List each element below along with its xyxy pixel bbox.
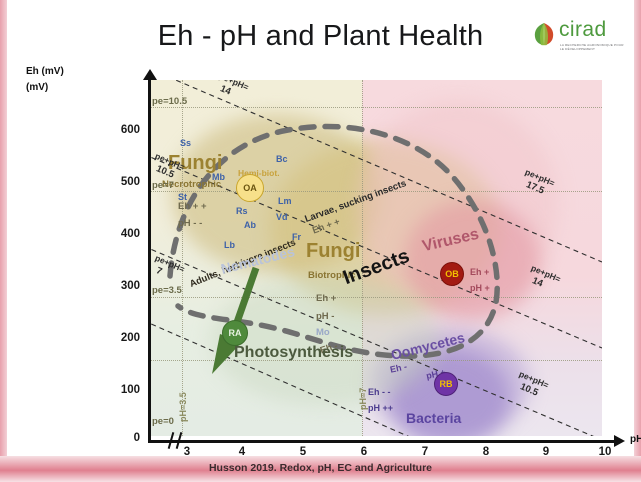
region-fungi-biotrophic-ph: pH - bbox=[316, 310, 334, 323]
footer-band: Husson 2019. Redox, pH, EC and Agricultu… bbox=[0, 456, 641, 482]
region-bacteria-title: Bacteria bbox=[406, 410, 461, 426]
region-viruses-eh: Eh + bbox=[470, 266, 489, 278]
y-axis-arrow-icon bbox=[143, 69, 157, 80]
y-axis-unit-mv: (mV) bbox=[26, 82, 48, 93]
ph-guide-label-3_5: pH=3.5 bbox=[178, 392, 188, 422]
x-axis-title-ph: pH bbox=[630, 434, 641, 445]
species-code-ab: Ab bbox=[244, 220, 256, 230]
region-fungi-biotrophic-eh: Eh + bbox=[316, 292, 336, 305]
marker-ob-label: OB bbox=[445, 269, 459, 279]
y-tick-100: 100 bbox=[94, 384, 140, 396]
y-tick-200: 200 bbox=[94, 332, 140, 344]
species-code-ss: Ss bbox=[180, 138, 191, 148]
region-fungi-necrotrophic-ph: pH - - bbox=[178, 217, 202, 230]
plot-area: Fungi Necrotrophic Eh + + pH - - Fungi B… bbox=[150, 80, 602, 436]
species-code-vd: Vd bbox=[276, 212, 288, 222]
cirad-wordmark: cirad bbox=[559, 18, 607, 42]
region-photosynthesis-title: Photosynthesis bbox=[234, 344, 353, 362]
marker-rb[interactable]: RB bbox=[434, 372, 458, 396]
right-edge-bar bbox=[634, 0, 641, 482]
y-tick-300: 300 bbox=[94, 280, 140, 292]
marker-ra-label: RA bbox=[229, 328, 242, 338]
region-viruses-ph: pH + bbox=[470, 282, 490, 294]
pe-label-0: pe=0 bbox=[152, 416, 174, 427]
marker-rb-label: RB bbox=[440, 379, 453, 389]
x-axis-line bbox=[148, 440, 618, 443]
region-fungi-biotrophic-title: Fungi bbox=[306, 240, 360, 263]
species-code-lm: Lm bbox=[278, 196, 292, 206]
region-bacteria-eh: Eh - - bbox=[368, 386, 391, 398]
species-code-bc: Bc bbox=[276, 154, 288, 164]
eh-ph-chart: Fungi Necrotrophic Eh + + pH - - Fungi B… bbox=[18, 68, 628, 453]
species-code-st: St bbox=[178, 192, 187, 202]
slide-canvas: Eh - pH and Plant Health cirad LA RECHER… bbox=[0, 0, 641, 482]
species-code-mb: Mb bbox=[212, 172, 225, 182]
region-fungi-biotrophic-extra: Mo bbox=[316, 326, 330, 339]
pe-label-3_5: pe=3.5 bbox=[152, 285, 182, 296]
marker-oa[interactable]: OA bbox=[236, 174, 264, 202]
marker-ra[interactable]: RA bbox=[222, 320, 248, 346]
y-axis-line bbox=[148, 78, 151, 442]
footer-citation: Husson 2019. Redox, pH, EC and Agricultu… bbox=[0, 462, 641, 474]
y-tick-600: 600 bbox=[94, 124, 140, 136]
pe-label-10_5: pe=10.5 bbox=[152, 96, 187, 107]
ph-guide-label-7: pH=7 bbox=[358, 388, 368, 410]
species-code-rs: Rs bbox=[236, 206, 248, 216]
species-code-fr: Fr bbox=[292, 232, 301, 242]
left-edge-bar bbox=[0, 0, 7, 482]
region-bacteria-ph: pH ++ bbox=[368, 402, 393, 414]
cirad-logo: cirad LA RECHERCHE AGRONOMIQUE POUR LE D… bbox=[533, 18, 625, 60]
y-tick-0: 0 bbox=[94, 432, 140, 444]
y-axis-title-eh: Eh (mV) bbox=[26, 66, 64, 77]
y-tick-400: 400 bbox=[94, 228, 140, 240]
species-code-lb: Lb bbox=[224, 240, 235, 250]
y-tick-500: 500 bbox=[94, 176, 140, 188]
cirad-tagline: LA RECHERCHE AGRONOMIQUE POUR LE DÉVELOP… bbox=[560, 43, 626, 52]
marker-ob[interactable]: OB bbox=[440, 262, 464, 286]
cirad-leaf-icon bbox=[533, 22, 555, 46]
pe-label-7: pe=7 bbox=[152, 180, 174, 191]
marker-oa-label: OA bbox=[243, 183, 257, 193]
